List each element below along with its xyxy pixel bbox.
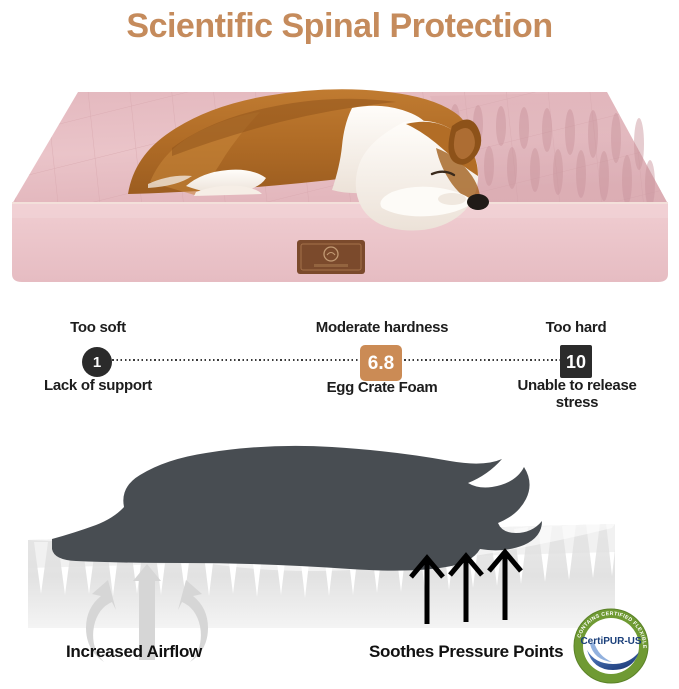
scale-marker-10: 10: [560, 345, 592, 378]
scale-label-lack-of-support: Lack of support: [12, 377, 184, 394]
scale-label-too-soft: Too soft: [25, 319, 171, 336]
scale-label-too-hard: Too hard: [500, 319, 652, 336]
certipur-badge-svg: CONTAINS CERTIFIED FLEXIBLE POLYURETHANE…: [570, 606, 652, 684]
brand-leather-tag: [297, 240, 365, 274]
certipur-us-badge: CONTAINS CERTIFIED FLEXIBLE POLYURETHANE…: [570, 606, 652, 684]
page-title: Scientific Spinal Protection: [126, 7, 552, 46]
title-bar: Scientific Spinal Protection: [0, 0, 679, 52]
scale-label-egg-crate-foam: Egg Crate Foam: [300, 379, 464, 396]
scale-marker-6-8: 6.8: [360, 345, 402, 381]
scale-label-unable-to-release-stress: Unable to release stress: [498, 377, 656, 412]
scale-marker-10-value: 10: [566, 353, 586, 371]
firmness-scale: Too soft Lack of support Moderate hardne…: [0, 307, 679, 412]
scale-track-right: [400, 359, 560, 361]
scale-label-moderate-hardness: Moderate hardness: [292, 319, 472, 336]
caption-increased-airflow: Increased Airflow: [66, 642, 202, 662]
hero-product-photo: [0, 52, 679, 297]
scale-track-left: [108, 359, 360, 361]
dog-silhouette: [52, 446, 542, 571]
dog-on-pink-bed-illustration: [0, 52, 679, 297]
caption-soothes-pressure-points: Soothes Pressure Points: [369, 642, 563, 662]
scale-marker-1: 1: [82, 347, 112, 377]
pressure-arrows: [411, 552, 521, 624]
scale-marker-6-8-value: 6.8: [368, 354, 394, 373]
scale-marker-1-value: 1: [93, 355, 101, 370]
certipur-wordmark: CertiPUR-US: [580, 636, 641, 647]
